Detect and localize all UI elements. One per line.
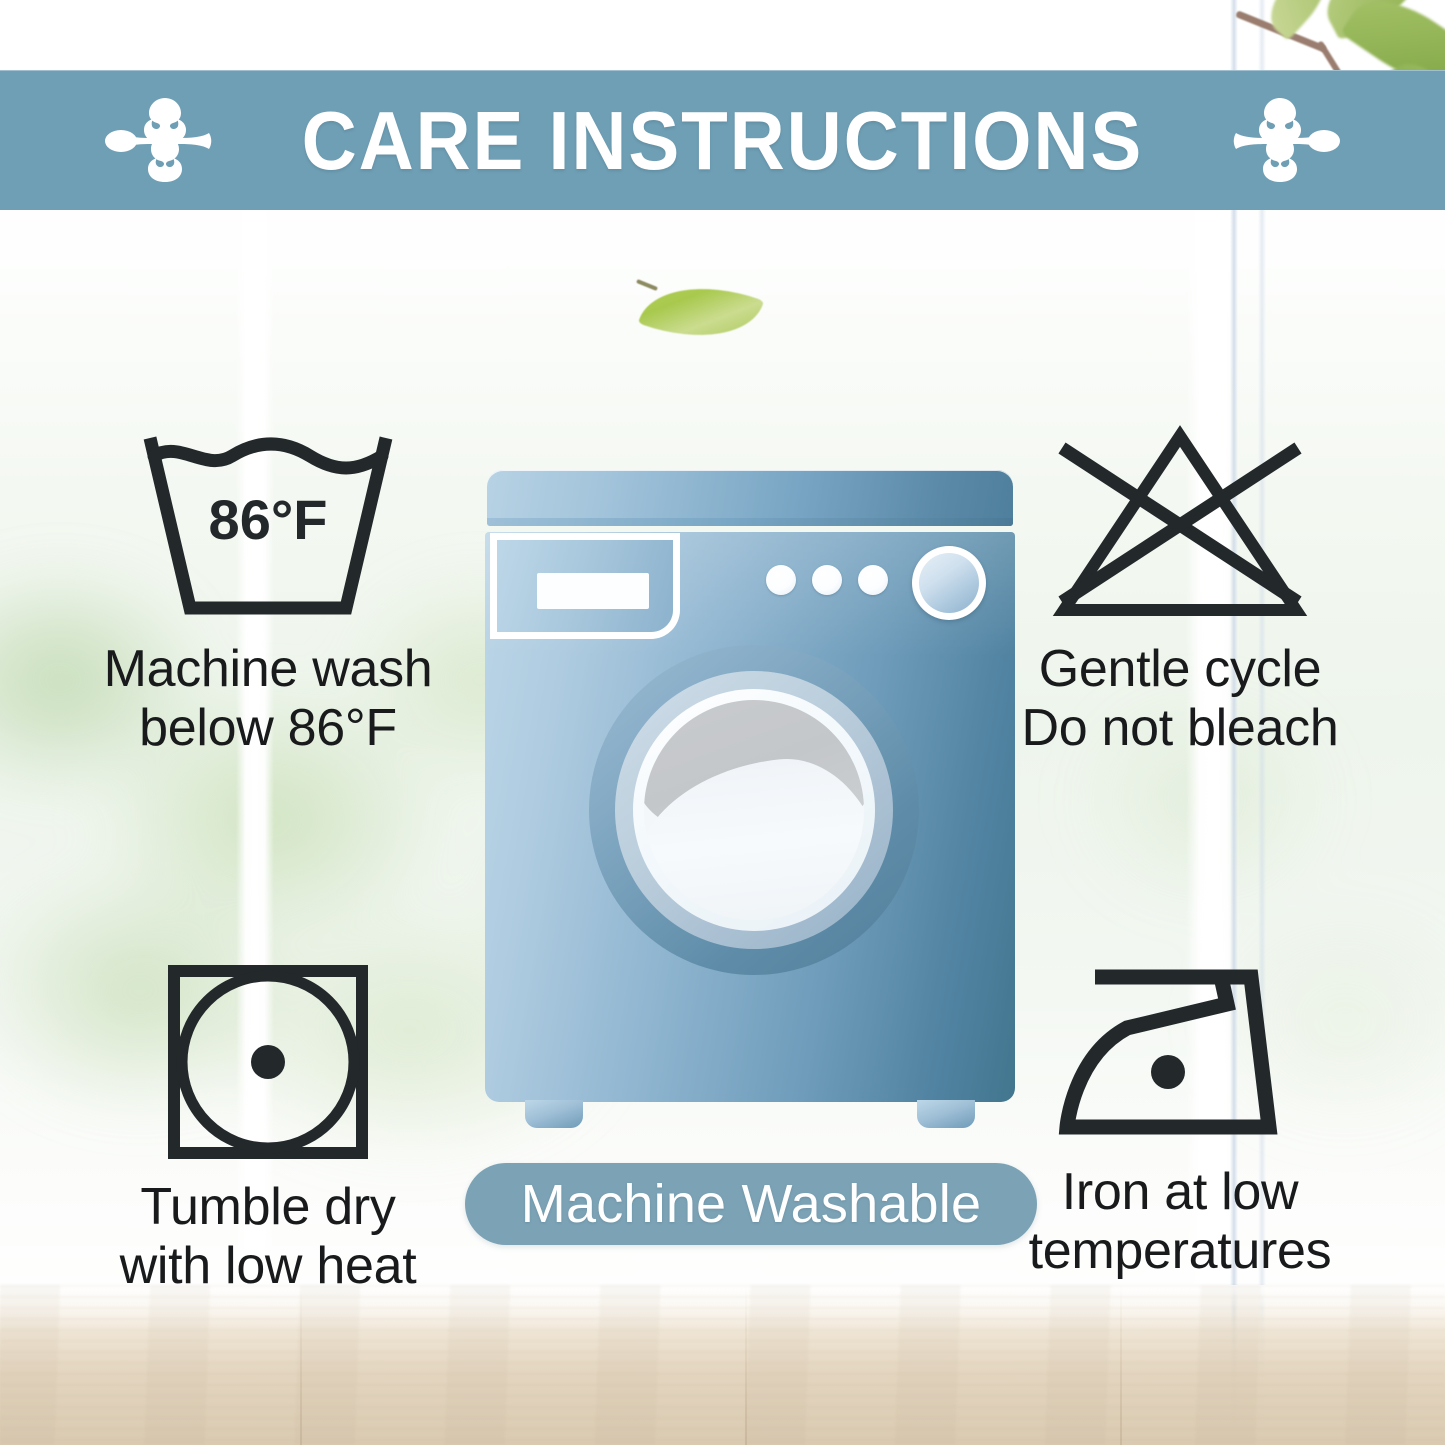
- header-banner: CARE INSTRUCTIONS: [0, 70, 1445, 210]
- care-symbol-tumble-dry: Tumble dry with low heat: [28, 962, 508, 1296]
- control-button: [812, 565, 842, 595]
- wood-plank-seam: [745, 1285, 747, 1445]
- care-caption-wash: Machine wash below 86°F: [104, 640, 433, 758]
- fleur-de-lis-icon: [1220, 92, 1340, 188]
- control-dial-face: [919, 553, 979, 613]
- do-not-bleach-triangle-icon: [1040, 424, 1320, 624]
- machine-washable-badge: Machine Washable: [465, 1163, 1037, 1245]
- wash-temperature-value: 86°F: [209, 488, 328, 551]
- control-dial: [912, 546, 986, 620]
- care-caption-tumble-dry: Tumble dry with low heat: [120, 1178, 417, 1296]
- machine-top-shade: [487, 518, 1013, 526]
- fleur-de-lis-icon: [105, 92, 225, 188]
- door-glass: [644, 700, 864, 920]
- wood-plank-seam: [300, 1285, 302, 1445]
- washing-machine-illustration: [485, 470, 1015, 1120]
- care-caption-bleach: Gentle cycle Do not bleach: [1022, 640, 1339, 758]
- wood-plank-seam: [1120, 1285, 1122, 1445]
- machine-foot: [525, 1100, 583, 1128]
- control-button: [766, 565, 796, 595]
- control-button: [858, 565, 888, 595]
- badge-label: Machine Washable: [521, 1177, 981, 1231]
- detergent-drawer: [497, 540, 673, 632]
- page-title: CARE INSTRUCTIONS: [302, 99, 1144, 182]
- tumble-dry-low-icon: [163, 962, 373, 1162]
- iron-low-temp-icon: [1055, 962, 1305, 1147]
- wood-grain-texture: [0, 1285, 1445, 1445]
- machine-foot: [917, 1100, 975, 1128]
- detergent-drawer-slot: [537, 573, 649, 609]
- care-caption-iron: Iron at low temperatures: [1029, 1163, 1332, 1281]
- wash-tub-icon: 86°F: [128, 424, 408, 624]
- care-symbol-wash: 86°F Machine wash below 86°F: [28, 424, 508, 758]
